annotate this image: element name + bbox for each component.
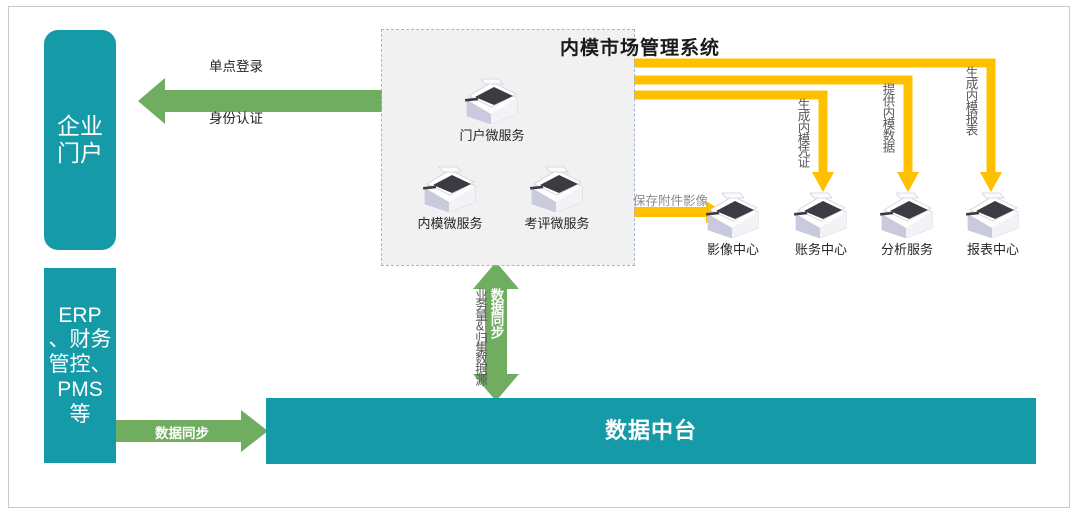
box-enterprise-portal-label: 企业 门户 [57, 113, 103, 167]
label-sso: 单点登录 [209, 55, 263, 75]
box-erp-finance-pms-label: ERP 、财务 管控、 PMS 等 [49, 304, 112, 428]
server-icon [461, 72, 523, 124]
service-portal-micro[interactable]: 门户微服务 [449, 72, 535, 144]
service-kaoping-micro-label: 考评微服务 [514, 213, 600, 232]
label-data-sync-vertical: 数据同步 [489, 288, 503, 338]
box-data-midplatform-label: 数据中台 [605, 418, 697, 444]
service-portal-micro-label: 门户微服务 [449, 125, 535, 144]
server-icon [876, 186, 938, 238]
label-provide-data: 提供内模数据 [881, 83, 894, 152]
page-title: 内模市场管理系统 [560, 33, 860, 60]
architecture-diagram: 内模市场管理系统 企业 门户 ERP 、财务 管控、 PMS 等 数据中台 门户… [0, 0, 1080, 521]
service-neimo-micro-label: 内模微服务 [407, 213, 493, 232]
label-gen-voucher: 生成内模凭证 [796, 98, 809, 167]
service-analysis-service-label: 分析服务 [864, 239, 950, 258]
box-enterprise-portal[interactable]: 企业 门户 [44, 30, 116, 250]
server-icon [790, 186, 852, 238]
service-kaoping-micro[interactable]: 考评微服务 [514, 160, 600, 232]
label-save-image: 保存附件影像 [633, 190, 708, 209]
server-icon [702, 186, 764, 238]
server-icon [419, 160, 481, 212]
service-report-center-label: 报表中心 [950, 239, 1036, 258]
service-neimo-micro[interactable]: 内模微服务 [407, 160, 493, 232]
service-image-center-label: 影像中心 [690, 239, 776, 258]
box-erp-finance-pms[interactable]: ERP 、财务 管控、 PMS 等 [44, 268, 116, 463]
service-account-center[interactable]: 账务中心 [778, 186, 864, 258]
label-identity: 身份认证 [209, 107, 263, 127]
service-report-center[interactable]: 报表中心 [950, 186, 1036, 258]
label-volume-source: 业务量&归集数据源 [455, 288, 485, 380]
arrow-sso-identity [138, 78, 410, 124]
box-data-midplatform[interactable]: 数据中台 [266, 398, 1036, 464]
label-data-sync-bottom: 数据同步 [155, 422, 209, 442]
server-icon [526, 160, 588, 212]
server-icon [962, 186, 1024, 238]
service-account-center-label: 账务中心 [778, 239, 864, 258]
label-gen-report: 生成内模报表 [964, 66, 977, 135]
service-analysis-service[interactable]: 分析服务 [864, 186, 950, 258]
